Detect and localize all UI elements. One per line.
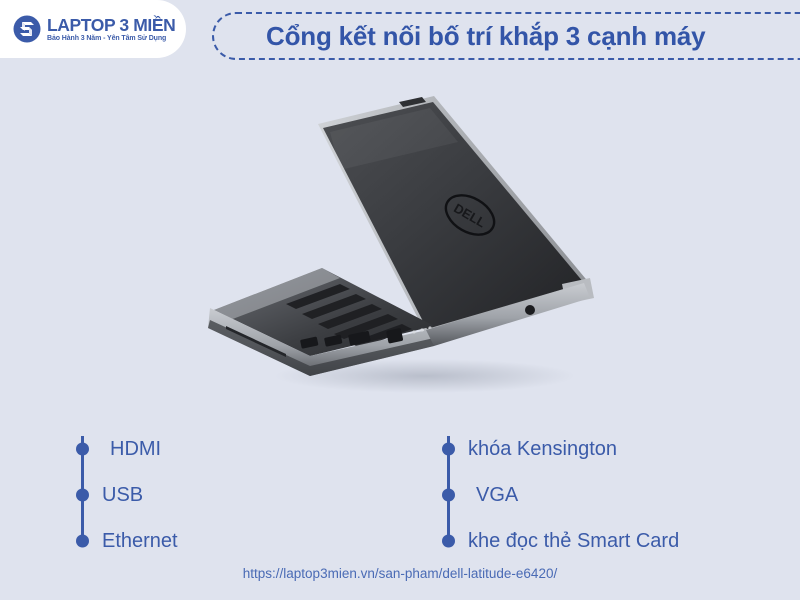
laptop-product-photo: DELL bbox=[190, 88, 610, 398]
bullet-dot-icon bbox=[76, 489, 89, 502]
list-item[interactable]: HDMI bbox=[74, 426, 178, 472]
list-item[interactable]: khe đọc thẻ Smart Card bbox=[440, 518, 679, 564]
brand-tagline: Bảo Hành 3 Năm - Yên Tâm Sử Dụng bbox=[47, 35, 175, 42]
page-title: Cổng kết nối bố trí khắp 3 cạnh máy bbox=[266, 21, 705, 52]
laptop3mien-emblem-icon bbox=[12, 15, 42, 43]
kensington-lock-slot bbox=[525, 305, 535, 315]
port-list-right: khóa Kensington VGA khe đọc thẻ Smart Ca… bbox=[440, 426, 679, 564]
title-banner: Cổng kết nối bố trí khắp 3 cạnh máy bbox=[212, 12, 800, 60]
list-item[interactable]: VGA bbox=[440, 472, 679, 518]
brand-text-group: LAPTOP 3 MIỀN Bảo Hành 3 Năm - Yên Tâm S… bbox=[47, 16, 175, 42]
port-label-kensington: khóa Kensington bbox=[468, 438, 617, 461]
brand-logo: LAPTOP 3 MIỀN Bảo Hành 3 Năm - Yên Tâm S… bbox=[0, 0, 186, 58]
dell-latitude-illustration: DELL bbox=[190, 88, 610, 398]
port-label-ethernet: Ethernet bbox=[102, 530, 178, 553]
port-label-vga: VGA bbox=[468, 484, 518, 507]
bullet-dot-icon bbox=[442, 443, 455, 456]
list-item[interactable]: USB bbox=[74, 472, 178, 518]
infographic-page: LAPTOP 3 MIỀN Bảo Hành 3 Năm - Yên Tâm S… bbox=[0, 0, 800, 600]
bullet-dot-icon bbox=[76, 535, 89, 548]
port-list-left: HDMI USB Ethernet bbox=[74, 426, 178, 564]
brand-name: LAPTOP 3 MIỀN bbox=[47, 16, 175, 34]
list-item[interactable]: Ethernet bbox=[74, 518, 178, 564]
bullet-dot-icon bbox=[442, 489, 455, 502]
port-label-hdmi: HDMI bbox=[102, 438, 161, 461]
list-item[interactable]: khóa Kensington bbox=[440, 426, 679, 472]
source-url[interactable]: https://laptop3mien.vn/san-pham/dell-lat… bbox=[0, 566, 800, 581]
port-label-smartcard: khe đọc thẻ Smart Card bbox=[468, 530, 679, 553]
port-label-usb: USB bbox=[102, 484, 143, 507]
bullet-dot-icon bbox=[76, 443, 89, 456]
bullet-dot-icon bbox=[442, 535, 455, 548]
